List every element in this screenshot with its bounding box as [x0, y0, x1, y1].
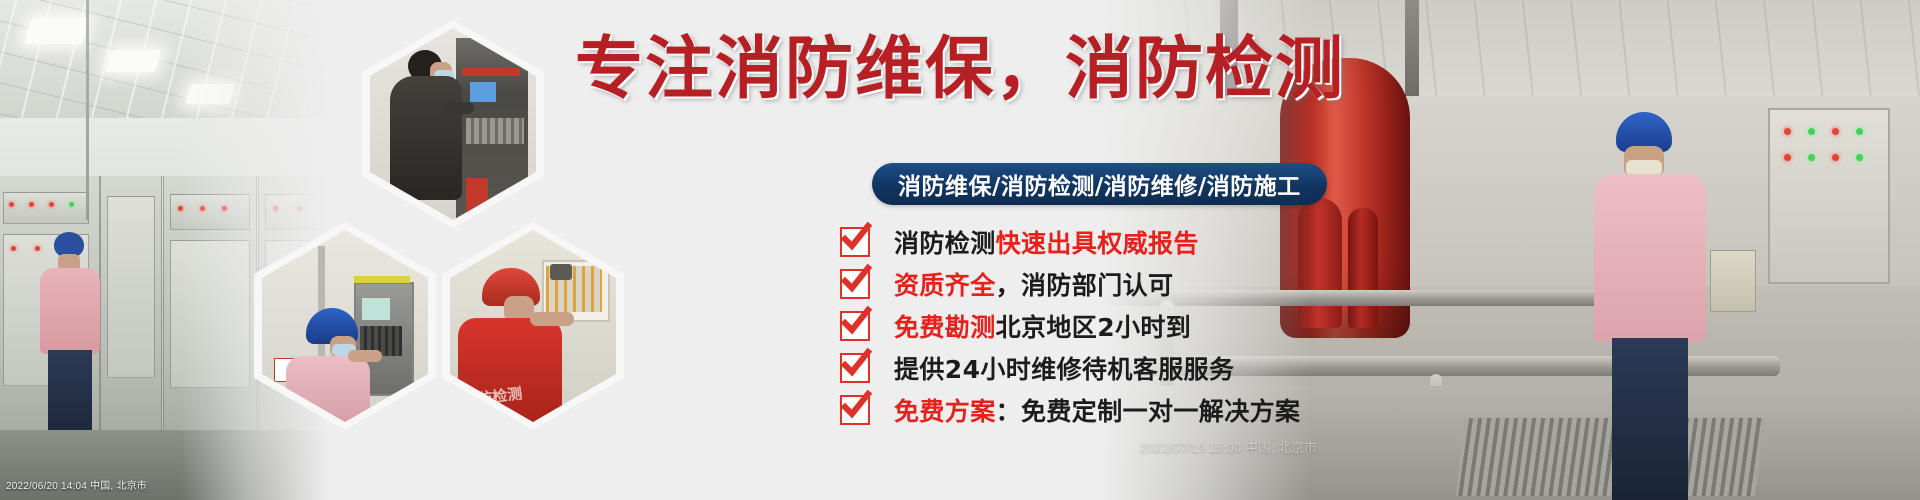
list-item: 免费方案：免费定制一对一解决方案	[840, 392, 1480, 427]
status-led	[1808, 154, 1815, 161]
engineer-figure	[1590, 112, 1710, 492]
status-led	[1856, 128, 1863, 135]
list-item-text: 消防检测快速出具权威报告	[894, 224, 1199, 260]
cabinet-screen	[470, 82, 496, 102]
services-pill: 消防维保/消防检测/消防维修/消防施工	[872, 163, 1327, 205]
arm	[348, 350, 382, 362]
checkmark-icon	[840, 269, 870, 299]
control-cabinet	[100, 176, 162, 436]
status-led	[49, 202, 54, 207]
status-led	[69, 202, 74, 207]
trousers	[48, 350, 92, 440]
list-item-text: 提供24小时维修待机客服服务	[894, 350, 1234, 386]
feature-list: 消防检测快速出具权威报告 资质齐全，消防部门认可 免费勘测北京地区2小时到 提供…	[840, 224, 1480, 434]
inspection-pole	[86, 0, 89, 220]
support-beam	[1405, 0, 1419, 96]
inspector-figure	[286, 308, 372, 422]
checkmark-icon	[840, 395, 870, 425]
worker-figure: 消防检测	[458, 268, 570, 422]
status-led	[29, 202, 34, 207]
technician-figure	[38, 228, 104, 438]
list-item: 消防检测快速出具权威报告	[840, 224, 1480, 259]
ceiling-light	[24, 18, 89, 44]
red-uniform: 消防检测	[458, 318, 562, 422]
status-led	[1832, 154, 1839, 161]
cabinet-panel	[3, 192, 89, 224]
status-led	[1832, 128, 1839, 135]
list-item: 资质齐全，消防部门认可	[840, 266, 1480, 301]
list-item-text: 免费方案：免费定制一对一解决方案	[894, 392, 1300, 428]
shirt	[40, 268, 100, 354]
checkmark-icon	[840, 353, 870, 383]
cabinet-keypad	[466, 118, 524, 144]
shirt	[286, 356, 370, 422]
test-device	[550, 264, 572, 280]
ceiling-light	[105, 50, 161, 72]
cabinet-label	[462, 68, 520, 76]
status-led	[1856, 154, 1863, 161]
checkmark-icon	[840, 227, 870, 257]
status-led	[9, 202, 14, 207]
list-item-text: 免费勘测北京地区2小时到	[894, 308, 1191, 344]
panel-label	[354, 276, 410, 283]
shirt	[1594, 174, 1706, 342]
list-item: 免费勘测北京地区2小时到	[840, 308, 1480, 343]
list-item: 提供24小时维修待机客服服务	[840, 350, 1480, 385]
cabinet-panel	[107, 196, 155, 378]
jacket	[390, 76, 462, 200]
photo-timestamp-left: 2022/06/20 14:04 中国, 北京市	[6, 477, 147, 492]
promo-banner: 2022/06/20 14:04 中国, 北京市	[0, 0, 1920, 500]
status-led	[1784, 128, 1791, 135]
status-led	[11, 246, 16, 251]
list-item-text: 资质齐全，消防部门认可	[894, 266, 1173, 302]
photo-timestamp-right: 2022/07/19 15:00 中国, 北京市	[1140, 437, 1317, 456]
arm	[444, 102, 474, 114]
checkmark-icon	[840, 311, 870, 341]
control-panel	[1768, 108, 1890, 284]
status-led	[1784, 154, 1791, 161]
arm	[530, 312, 574, 326]
wall-box	[1710, 250, 1756, 312]
page-title: 专注消防维保，消防检测	[575, 28, 1275, 112]
status-led	[1808, 128, 1815, 135]
trousers	[1612, 338, 1688, 500]
